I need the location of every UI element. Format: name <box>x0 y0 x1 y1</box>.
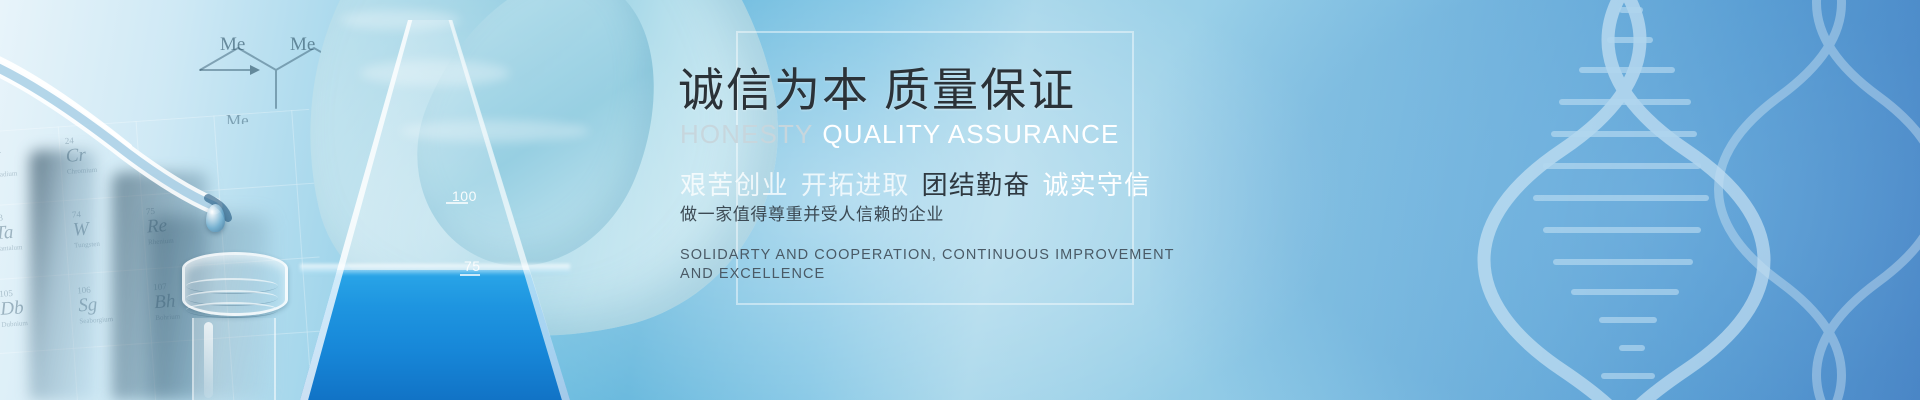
lab-hero-banner: 23 V Vanadium 24 Cr Chromium 73 Ta Tanta… <box>0 0 1920 400</box>
slogan-part-4: 诚实守信 <box>1042 170 1151 200</box>
flask-liquid <box>300 20 570 400</box>
footer-line-2: AND EXCELLENCE <box>680 265 1438 284</box>
tagline: 做一家值得尊重并受人信赖的企业 <box>680 204 1438 226</box>
slogan-part-2: 开拓进取 <box>801 170 910 200</box>
banner-copy-block: 诚信为本质量保证 HONESTYQUALITY ASSURANCE 艰苦创业开拓… <box>678 64 1438 284</box>
liquid-droplet <box>206 204 225 232</box>
graduation-tick <box>460 274 480 276</box>
headline-part-2: 质量保证 <box>884 64 1076 116</box>
headline-part-1: 诚信为本 <box>678 64 870 116</box>
periodic-cell: 105 Db Dubnium <box>0 287 28 329</box>
slogan-line: 艰苦创业开拓进取团结勤奋诚实守信 <box>680 170 1438 200</box>
subtitle-part-quality-assurance: QUALITY ASSURANCE <box>822 119 1119 149</box>
glass-vial <box>168 252 296 400</box>
footer-line-1: SOLIDARTY AND COOPERATION, CONTINUOUS IM… <box>680 246 1438 265</box>
slogan-part-1: 艰苦创业 <box>680 170 789 200</box>
vial-highlight <box>204 322 213 398</box>
page-title: 诚信为本质量保证 <box>678 64 1438 116</box>
vial-thread <box>186 302 278 318</box>
erlenmeyer-flask: 100 75 <box>300 20 570 400</box>
subtitle-english: HONESTYQUALITY ASSURANCE <box>680 119 1438 149</box>
dna-double-helix <box>1450 0 1920 400</box>
footer-english: SOLIDARTY AND COOPERATION, CONTINUOUS IM… <box>680 246 1438 284</box>
subtitle-part-honesty: HONESTY <box>680 119 813 149</box>
slogan-part-3: 团结勤奋 <box>922 170 1031 200</box>
pipette-dropper <box>0 48 276 233</box>
graduation-label-75: 75 <box>464 258 481 274</box>
graduation-label-100: 100 <box>452 188 477 204</box>
